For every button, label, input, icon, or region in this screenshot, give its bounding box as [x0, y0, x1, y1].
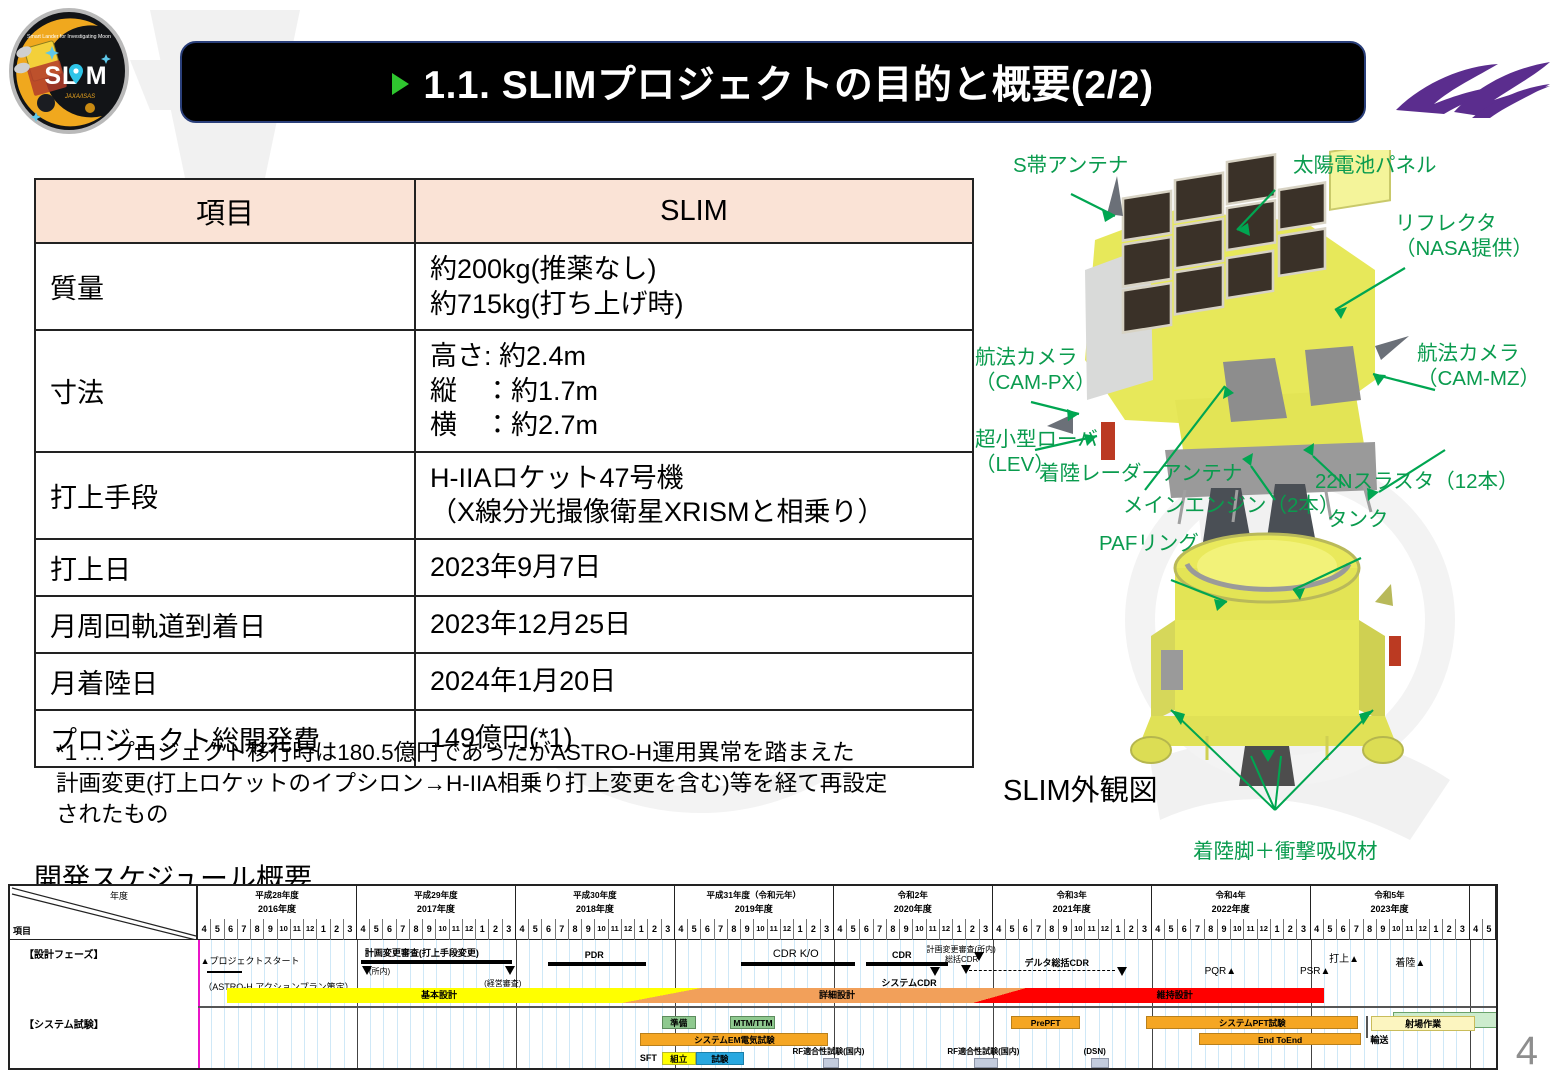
gantt-month-cell: 9	[263, 919, 276, 940]
gantt-month-cell: 11	[1402, 919, 1415, 940]
gantt-month-row: 456789101112123	[357, 919, 515, 940]
gantt-month-cell: 1	[1111, 919, 1124, 940]
gantt-month-cell: 9	[899, 919, 912, 940]
spec-item-value: 約200kg(推薬なし)約715kg(打ち上げ時)	[415, 243, 973, 330]
gantt-gridline	[1218, 940, 1219, 1068]
gantt-gridline	[926, 940, 927, 1068]
spec-value-line: 2024年1月20日	[430, 664, 958, 699]
gantt-month-cell: 12	[621, 919, 634, 940]
gantt-gridline	[1364, 940, 1365, 1068]
gantt-month-cell: 8	[1045, 919, 1058, 940]
gantt-month-cell: 7	[873, 919, 886, 940]
gantt-year-column: 平成28年度2016年度456789101112123	[198, 886, 357, 940]
gantt-month-cell: 1	[475, 919, 488, 940]
test-label-rf-compat-2: RF適合性試験(国内)	[940, 1046, 1027, 1058]
test-bar-system-pft: システムPFT試験	[1146, 1016, 1358, 1029]
spec-item-value: 2024年1月20日	[415, 653, 973, 710]
gantt-year-jp: 平成29年度	[357, 889, 515, 901]
test-bar-em-electrical: システムEM電気試験	[640, 1033, 828, 1046]
gantt-gridline	[1231, 940, 1232, 1068]
slide-title-bar: 1.1. SLIMプロジェクトの目的と概要(2/2)	[180, 41, 1366, 123]
gantt-month-cell: 5	[846, 919, 859, 940]
gantt-month-cell: 7	[1031, 919, 1044, 940]
gantt-month-cell: 2	[330, 919, 343, 940]
gantt-gridline	[913, 940, 914, 1068]
test-label-transport: 輸送	[1364, 1034, 1396, 1046]
landing-radar-antenna-label: 着陸レーダーアンテナ	[1039, 462, 1242, 487]
spec-value-line: 約715kg(打ち上げ時)	[430, 287, 958, 322]
gantt-month-row: 456789101112123	[675, 919, 833, 940]
gantt-year-column: 令和5年2023年度456789101112123	[1311, 886, 1470, 940]
gantt-gridline	[304, 940, 305, 1068]
gantt-month-cell: 4	[1311, 919, 1323, 940]
gantt-month-cell: 1	[634, 919, 647, 940]
svg-text:Smart Lander for Investigating: Smart Lander for Investigating Moon	[27, 34, 111, 40]
gantt-month-cell: 12	[462, 919, 475, 940]
gantt-gridline	[1483, 940, 1484, 1068]
gantt-month-cell: 6	[541, 919, 554, 940]
gantt-gridline	[609, 940, 610, 1068]
gantt-gridline	[662, 940, 663, 1068]
spec-item-value: 2023年9月7日	[415, 539, 973, 596]
column-header-slim: SLIM	[415, 179, 973, 243]
phase-bar-detail-design: 詳細設計	[701, 988, 973, 1003]
spacecraft-caption: SLIM外観図	[1003, 774, 1158, 809]
spec-value-line: 横 ：約2.7m	[430, 408, 958, 443]
phase-transition-wedge	[622, 988, 701, 1003]
gantt-month-cell: 12	[1416, 919, 1429, 940]
gantt-gridline	[1297, 940, 1298, 1068]
gantt-gridline	[516, 940, 517, 1068]
phase-bar-maintenance-design: 維持設計	[1026, 988, 1324, 1003]
reflector-label: リフレクタ （NASA提供）	[1395, 212, 1533, 261]
gantt-gridline	[675, 940, 676, 1068]
test-bar-prepft: PrePFT	[1011, 1016, 1080, 1029]
gantt-month-cell: 11	[1243, 919, 1256, 940]
gantt-gridline	[1191, 940, 1192, 1068]
gantt-month-cell: 11	[608, 919, 621, 940]
gantt-month-cell: 8	[1204, 919, 1217, 940]
slim-spec-table: 項目 SLIM 質量約200kg(推薬なし)約715kg(打ち上げ時)寸法高さ:…	[34, 178, 974, 768]
footnote-line: 計画変更(打上ロケットのイプシロン→H-IIA相乗り打上変更を含む)等を経て再設…	[56, 768, 956, 799]
landing-leg-label: 着陸脚＋衝撃吸収材	[1193, 840, 1378, 865]
slim-lower-view	[1131, 534, 1403, 810]
test-bar-preparation: 準備	[662, 1016, 696, 1029]
gantt-month-cell: 5	[1164, 919, 1177, 940]
gantt-month-cell: 1	[1429, 919, 1442, 940]
milestone-delta-sokatsu-cdr: デルタ総括CDR	[1024, 956, 1089, 969]
gantt-month-cell: 7	[555, 919, 568, 940]
gantt-milestone-marker	[505, 966, 515, 975]
gantt-month-cell: 9	[422, 919, 435, 940]
spec-item-value: 2023年12月25日	[415, 596, 973, 653]
gantt-gridline	[1205, 940, 1206, 1068]
gantt-month-cell: 5	[1323, 919, 1336, 940]
spec-item-name: 打上手段	[35, 452, 415, 539]
gantt-month-cell: 9	[1217, 919, 1230, 940]
column-header-item: 項目	[35, 179, 415, 243]
gantt-month-cell: 3	[661, 919, 674, 940]
gantt-month-cell: 4	[675, 919, 687, 940]
milestone-launch: 打上▲	[1329, 950, 1359, 965]
gantt-year-column: 平成30年度2018年度456789101112123	[516, 886, 675, 940]
gantt-month-cell: 12	[303, 919, 316, 940]
gantt-gridline	[1284, 940, 1285, 1068]
gantt-month-cell: 8	[727, 919, 740, 940]
gantt-gridline	[1430, 940, 1431, 1068]
gantt-month-cell: 2	[965, 919, 978, 940]
gantt-month-cell: 11	[926, 919, 939, 940]
gantt-gridline	[728, 940, 729, 1068]
gantt-gridline	[556, 940, 557, 1068]
gantt-review-bar	[361, 960, 512, 964]
page-number: 4	[1516, 1029, 1538, 1074]
gantt-month-cell: 10	[435, 919, 448, 940]
gantt-month-cell: 6	[224, 919, 237, 940]
svg-text:JAXA/ISAS: JAXA/ISAS	[64, 94, 95, 100]
gantt-month-cell: 6	[1177, 919, 1190, 940]
gantt-month-cell: 9	[1376, 919, 1389, 940]
table-row: 寸法高さ: 約2.4m縦 ：約1.7m横 ：約2.7m	[35, 330, 973, 452]
spec-item-name: 打上日	[35, 539, 415, 596]
gantt-year-ad: 2023年度	[1311, 902, 1469, 915]
gantt-month-cell: 12	[939, 919, 952, 940]
gantt-month-cell: 3	[1137, 919, 1150, 940]
test-bar-end-to-end: End ToEnd	[1199, 1033, 1361, 1045]
gantt-month-cell: 6	[859, 919, 872, 940]
spec-table-body: 質量約200kg(推薬なし)約715kg(打ち上げ時)寸法高さ: 約2.4m縦 …	[35, 243, 973, 767]
gantt-year-ad: 2017年度	[357, 902, 515, 915]
gantt-year-column: 平成31年度（令和元年）2019年度456789101112123	[675, 886, 834, 940]
spec-item-name: 寸法	[35, 330, 415, 452]
gantt-gridline	[1324, 940, 1325, 1068]
gantt-month-cell: 1	[793, 919, 806, 940]
test-bar-launch-site-ops: 射場作業	[1371, 1016, 1474, 1031]
gantt-month-cell: 10	[277, 919, 290, 940]
gantt-gridline	[715, 940, 716, 1068]
test-bar-rf-compat-2	[974, 1058, 998, 1068]
footnote-block: *1 … プロジェクト移行時は180.5億円であったがASTRO-H運用異常を踏…	[56, 737, 956, 830]
gantt-month-cell: 5	[687, 919, 700, 940]
spec-value-line: 縦 ：約1.7m	[430, 374, 958, 409]
gantt-month-row: 45	[1470, 919, 1495, 940]
gantt-gridline	[542, 940, 543, 1068]
gantt-gridline	[648, 940, 649, 1068]
transport-marker-line	[1366, 1016, 1368, 1038]
gantt-gridline	[1311, 940, 1312, 1068]
spec-value-line: 約200kg(推薬なし)	[430, 252, 958, 287]
gantt-year-jp: 平成30年度	[516, 889, 674, 901]
gantt-year-ad: 2022年度	[1152, 902, 1310, 915]
gantt-year-axis-label: 年度	[110, 889, 128, 902]
gantt-year-jp: 令和5年	[1311, 889, 1469, 901]
spec-value-line: 2023年12月25日	[430, 607, 958, 642]
phase-bar-basic-design: 基本設計	[227, 988, 651, 1003]
gantt-gridline	[887, 940, 888, 1068]
gantt-gridline	[1258, 940, 1259, 1068]
s-band-antenna-label: S帯アンテナ	[1013, 154, 1128, 179]
isas-logo	[1394, 48, 1552, 122]
spec-item-name: 月周回軌道到着日	[35, 596, 415, 653]
test-label-rf-compat-1: RF適合性試験(国内)	[786, 1046, 871, 1058]
gantt-gridline	[1470, 940, 1471, 1068]
gantt-month-cell: 10	[594, 919, 607, 940]
tank-label: タンク	[1327, 508, 1389, 533]
table-row: 月周回軌道到着日2023年12月25日	[35, 596, 973, 653]
gantt-month-cell: 5	[1005, 919, 1018, 940]
gantt-gridline	[317, 940, 318, 1068]
main-engine-label: メインエンジン（2本）	[1123, 494, 1339, 519]
gantt-gridline	[1178, 940, 1179, 1068]
gantt-row-label: 【システム試験】	[24, 1016, 104, 1031]
gantt-month-cell: 4	[993, 919, 1005, 940]
gantt-year-ad: 2019年度	[675, 902, 833, 915]
gantt-gridline	[1125, 940, 1126, 1068]
gantt-year-ad: 2021年度	[993, 902, 1151, 915]
table-row: 月着陸日2024年1月20日	[35, 653, 973, 710]
gantt-month-cell: 3	[1296, 919, 1309, 940]
gantt-milestone-marker	[1117, 967, 1127, 976]
gantt-month-cell: 9	[581, 919, 594, 940]
gantt-gridline	[344, 940, 345, 1068]
gantt-year-ad: 2018年度	[516, 902, 674, 915]
gantt-gridline	[330, 940, 331, 1068]
gantt-gridline	[1244, 940, 1245, 1068]
gantt-gridline	[1138, 940, 1139, 1068]
gantt-month-cell: 7	[396, 919, 409, 940]
spec-value-line: 高さ: 約2.4m	[430, 339, 958, 374]
spacecraft-illustration-area: S帯アンテナ 太陽電池パネル リフレクタ （NASA提供） 航法カメラ （CAM…	[975, 150, 1560, 890]
footnote-line: *1 … プロジェクト移行時は180.5億円であったがASTRO-H運用異常を踏…	[56, 737, 956, 768]
gantt-month-cell: 2	[488, 919, 501, 940]
gantt-milestone-marker	[930, 967, 940, 976]
gantt-month-cell: 6	[1336, 919, 1349, 940]
gantt-month-cell: 4	[516, 919, 528, 940]
gantt-month-cell: 3	[1455, 919, 1468, 940]
gantt-month-cell: 4	[834, 919, 846, 940]
milestone-shonai: (所内)	[369, 966, 390, 977]
gantt-gridline	[688, 940, 689, 1068]
table-row: 打上手段H-IIAロケット47号機（X線分光撮像衛星XRISMと相乗り）	[35, 452, 973, 539]
table-row: 打上日2023年9月7日	[35, 539, 973, 596]
gantt-month-cell: 1	[952, 919, 965, 940]
gantt-month-cell: 11	[290, 919, 303, 940]
gantt-gridline	[1377, 940, 1378, 1068]
milestone-plan-change-review: 計画変更審査(打上手段変更)	[365, 946, 479, 959]
slim-mission-logo: Smart Lander for Investigating Moon SL M…	[6, 8, 132, 134]
gantt-year-ad: 2016年度	[198, 902, 356, 915]
gantt-gridline	[1271, 940, 1272, 1068]
gantt-gridline	[582, 940, 583, 1068]
table-header-row: 項目 SLIM	[35, 179, 973, 243]
test-bar-mtm-ttm: MTM/TTM	[730, 1016, 775, 1029]
gantt-year-jp: 令和4年	[1152, 889, 1310, 901]
gantt-gridline	[357, 940, 358, 1068]
gantt-year-jp: 平成28年度	[198, 889, 356, 901]
paf-ring-label: PAFリング	[1099, 532, 1199, 557]
spec-value-line: H-IIAロケット47号機	[430, 461, 958, 496]
gantt-year-column: 45	[1470, 886, 1496, 940]
gantt-gridline	[1443, 940, 1444, 1068]
gantt-month-cell: 4	[1470, 919, 1482, 940]
gantt-month-cell: 10	[1389, 919, 1402, 940]
gantt-review-bar	[866, 962, 948, 966]
gantt-month-cell: 9	[1058, 919, 1071, 940]
test-label-sft: SFT	[635, 1052, 661, 1065]
gantt-month-cell: 7	[1190, 919, 1203, 940]
gantt-year-jp: 令和2年	[834, 889, 992, 901]
corner-diagonal-icon	[10, 886, 198, 940]
gantt-month-cell: 8	[1363, 919, 1376, 940]
milestone-landing: 着陸▲	[1395, 954, 1425, 969]
milestone-psr: PSR▲	[1300, 966, 1330, 977]
gantt-month-cell: 7	[1349, 919, 1362, 940]
gantt-review-bar	[741, 962, 855, 966]
spec-value-line: （X線分光撮像衛星XRISMと相乗り）	[430, 495, 958, 530]
gantt-month-cell: 8	[568, 919, 581, 940]
gantt-gridline	[622, 940, 623, 1068]
gantt-corner-header: 年度 項目	[10, 886, 198, 940]
gantt-month-row: 456789101112123	[516, 919, 674, 940]
gantt-month-row: 456789101112123	[198, 919, 356, 940]
gantt-gridline	[741, 940, 742, 1068]
spec-item-name: 質量	[35, 243, 415, 330]
gantt-month-cell: 6	[1018, 919, 1031, 940]
nav-camera-px-label: 航法カメラ （CAM-PX）	[975, 346, 1096, 395]
gantt-month-cell: 4	[1152, 919, 1164, 940]
gantt-month-cell: 8	[409, 919, 422, 940]
gantt-year-jp: 平成31年度（令和元年）	[675, 889, 833, 901]
gantt-month-cell: 3	[502, 919, 515, 940]
solar-array-panel-label: 太陽電池パネル	[1293, 154, 1437, 179]
gantt-gridline	[569, 940, 570, 1068]
gantt-month-cell: 2	[1442, 919, 1455, 940]
gantt-year-column: 令和2年2020年度456789101112123	[834, 886, 993, 940]
gantt-year-ad: 2020年度	[834, 902, 992, 915]
gantt-month-row: 456789101112123	[1152, 919, 1310, 940]
gantt-month-cell: 10	[1230, 919, 1243, 940]
gantt-month-cell: 11	[1084, 919, 1097, 940]
gantt-milestone-marker	[974, 952, 984, 961]
page-title: 1.1. SLIMプロジェクトの目的と概要(2/2)	[423, 54, 1153, 110]
phase-transition-wedge-2	[973, 988, 1026, 1003]
gantt-gridline	[1456, 940, 1457, 1068]
gantt-gridline	[768, 940, 769, 1068]
gantt-month-cell: 12	[780, 919, 793, 940]
gantt-month-cell: 5	[1482, 919, 1495, 940]
test-bar-dsn	[1091, 1058, 1110, 1068]
gantt-month-cell: 10	[912, 919, 925, 940]
gantt-month-cell: 6	[700, 919, 713, 940]
gantt-month-cell: 10	[1071, 919, 1084, 940]
gantt-year-column: 令和4年2022年度456789101112123	[1152, 886, 1311, 940]
gantt-month-cell: 5	[528, 919, 541, 940]
nav-camera-mz-label: 航法カメラ （CAM-MZ）	[1417, 342, 1540, 391]
gantt-month-cell: 5	[369, 919, 382, 940]
spec-value-line: 2023年9月7日	[430, 550, 958, 585]
gantt-month-cell: 5	[210, 919, 223, 940]
gantt-month-cell: 8	[250, 919, 263, 940]
gantt-gridline	[1165, 940, 1166, 1068]
gantt-review-bar	[548, 962, 646, 966]
thruster-22n-label: 22Nスラスタ（12本）	[1315, 470, 1519, 495]
gantt-row-label: 【設計フェーズ】	[24, 946, 104, 961]
gantt-gridline	[1390, 940, 1391, 1068]
gantt-month-cell: 9	[740, 919, 753, 940]
gantt-dashed-link	[969, 970, 1115, 971]
gantt-month-cell: 3	[820, 919, 833, 940]
gantt-item-axis-label: 項目	[13, 924, 31, 937]
gantt-gridline	[754, 940, 755, 1068]
development-schedule-gantt: 年度 項目 平成28年度2016年度456789101112123平成29年度2…	[8, 884, 1498, 1070]
gantt-month-cell: 3	[343, 919, 356, 940]
gantt-year-jp: 令和3年	[993, 889, 1151, 901]
spec-item-value: 高さ: 約2.4m縦 ：約1.7m横 ：約2.7m	[415, 330, 973, 452]
gantt-month-row: 456789101112123	[834, 919, 992, 940]
play-triangle-icon	[392, 73, 409, 95]
gantt-month-cell: 12	[1098, 919, 1111, 940]
gantt-span-arrow	[207, 971, 241, 973]
spec-item-name: 月着陸日	[35, 653, 415, 710]
gantt-year-column: 令和3年2021年度456789101112123	[993, 886, 1152, 940]
milestone-project-start: ▲プロジェクトスタート	[201, 954, 300, 967]
gantt-month-cell: 11	[767, 919, 780, 940]
gantt-month-cell: 11	[449, 919, 462, 940]
spec-item-value: H-IIAロケット47号機（X線分光撮像衛星XRISMと相乗り）	[415, 452, 973, 539]
gantt-month-row: 456789101112123	[993, 919, 1151, 940]
gantt-month-cell: 7	[714, 919, 727, 940]
gantt-month-cell: 3	[979, 919, 992, 940]
milestone-cdr-ko: CDR K/O	[773, 948, 819, 960]
gantt-row-separator	[198, 1006, 1496, 1008]
gantt-year-column: 平成29年度2017年度456789101112123	[357, 886, 516, 940]
table-row: 質量約200kg(推薬なし)約715kg(打ち上げ時)	[35, 243, 973, 330]
gantt-month-cell: 1	[316, 919, 329, 940]
gantt-gridline	[635, 940, 636, 1068]
gantt-month-cell: 7	[237, 919, 250, 940]
test-bar-rf-compat-1	[823, 1058, 839, 1068]
milestone-pqr: PQR▲	[1205, 966, 1237, 977]
milestone-cdr: CDR	[892, 950, 912, 960]
gantt-gridline	[529, 940, 530, 1068]
gantt-month-row: 456789101112123	[1311, 919, 1469, 940]
footnote-line: されたもの	[56, 799, 956, 830]
gantt-month-cell: 2	[1283, 919, 1296, 940]
gantt-gridline	[1152, 940, 1153, 1068]
gantt-month-cell: 2	[647, 919, 660, 940]
gantt-month-cell: 4	[357, 919, 369, 940]
gantt-month-cell: 6	[382, 919, 395, 940]
gantt-month-cell: 8	[886, 919, 899, 940]
gantt-month-cell: 4	[198, 919, 210, 940]
gantt-grid: ▲プロジェクトスタート（ASTRO-H アクションプラン策定）計画変更審査(打上…	[198, 940, 1496, 1068]
gantt-gridline	[873, 940, 874, 1068]
test-bar-assembly: 組立	[662, 1052, 696, 1065]
gantt-gridline	[701, 940, 702, 1068]
gantt-month-cell: 2	[1124, 919, 1137, 940]
gantt-month-cell: 1	[1270, 919, 1283, 940]
gantt-month-cell: 10	[753, 919, 766, 940]
test-label-dsn: (DSN)	[1072, 1046, 1117, 1058]
milestone-pdr: PDR	[585, 950, 604, 960]
gantt-month-cell: 2	[806, 919, 819, 940]
test-bar-test: 試験	[696, 1052, 744, 1065]
gantt-month-cell: 12	[1257, 919, 1270, 940]
